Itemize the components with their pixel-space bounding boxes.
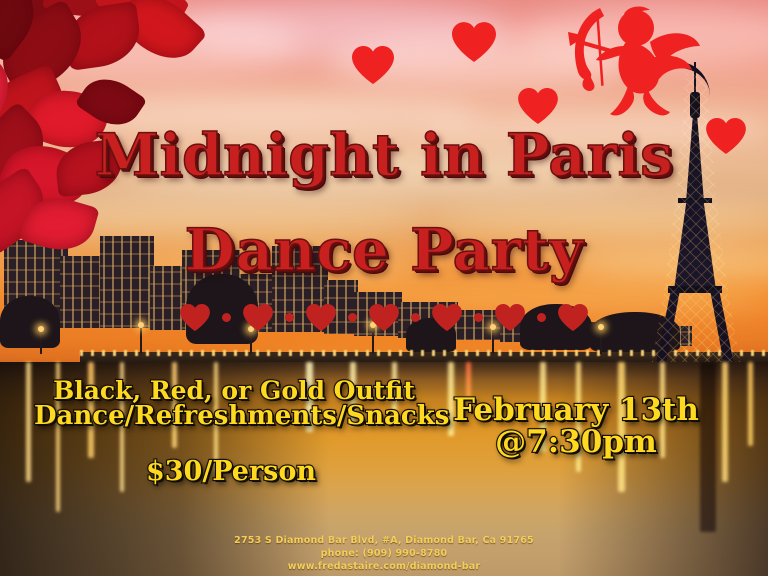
divider-dot	[474, 313, 483, 322]
divider-heart-icon	[495, 304, 525, 331]
divider-heart-icon	[243, 304, 273, 331]
floating-heart-icon	[452, 22, 496, 62]
floating-heart-icon	[352, 46, 394, 84]
divider-heart-icon	[432, 304, 462, 331]
event-datetime-block: February 13th @7:30pm	[432, 394, 720, 459]
street-lamp	[600, 328, 602, 354]
divider-dot	[285, 313, 294, 322]
footer-phone: phone: (909) 990-8780	[0, 547, 768, 560]
title-line-1: Midnight in Paris	[0, 126, 768, 185]
footer-website[interactable]: www.fredastaire.com/diamond-bar	[0, 560, 768, 573]
footer-contact-block: 2753 S Diamond Bar Blvd, #A, Diamond Bar…	[0, 534, 768, 573]
water-reflection	[748, 362, 753, 446]
divider-dot	[537, 313, 546, 322]
heart-divider	[0, 304, 768, 331]
divider-heart-icon	[180, 304, 210, 331]
divider-heart-icon	[369, 304, 399, 331]
water-reflection	[722, 362, 728, 482]
street-lamp	[492, 328, 494, 354]
footer-address: 2753 S Diamond Bar Blvd, #A, Diamond Bar…	[0, 534, 768, 547]
divider-heart-icon	[306, 304, 336, 331]
cupid-icon	[566, 2, 702, 122]
valentines-dance-flyer: Midnight in Paris Dance Party Black, Red…	[0, 0, 768, 576]
divider-dot	[222, 313, 231, 322]
price-text: $30/Person	[86, 458, 376, 487]
event-date-text: February 13th	[432, 394, 720, 427]
event-time-text: @7:30pm	[432, 426, 720, 459]
floating-heart-icon	[518, 88, 558, 124]
flyer-title-block: Midnight in Paris Dance Party	[0, 126, 768, 280]
divider-dot	[348, 313, 357, 322]
divider-dot	[411, 313, 420, 322]
divider-heart-icon	[558, 304, 588, 331]
street-lamp	[40, 330, 42, 354]
street-lamp	[250, 330, 252, 354]
title-line-2: Dance Party	[0, 221, 768, 280]
event-details-block: Black, Red, or Gold Outfit Dance/Refresh…	[34, 378, 434, 430]
offerings-text: Dance/Refreshments/Snacks	[34, 403, 434, 431]
water-reflection	[26, 362, 31, 482]
